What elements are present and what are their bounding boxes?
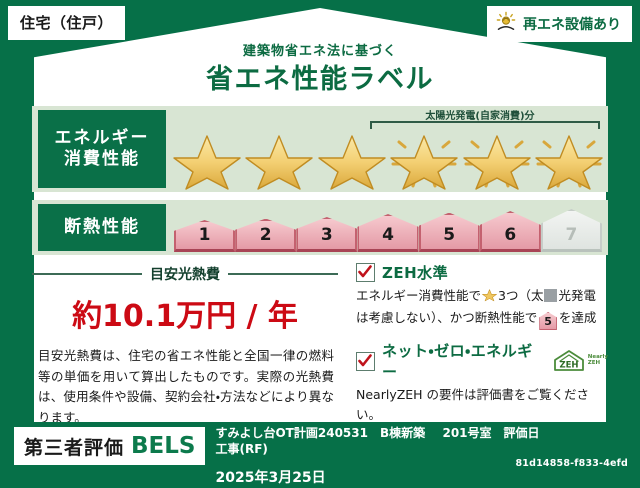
- star-icon: [482, 290, 497, 305]
- check-icon: [356, 263, 375, 282]
- renewable-equipment-badge: 再エネ設備あり: [487, 6, 632, 42]
- insulation-level-inline-badge: 5: [539, 312, 557, 330]
- rule-left: [32, 273, 142, 275]
- energy-performance-label: 住宅（住戸） 再エネ設備あり 建築物省エネ法に基づく 省エネ性能ラベル: [0, 0, 640, 478]
- utility-cost-title-row: 目安光熱費: [32, 264, 338, 284]
- footer-metadata: すみよし台OT計画240531 B棟新築工事(RF) 201号室 評価日 202…: [205, 425, 630, 467]
- star-solar-icon: [389, 128, 459, 190]
- solar-portion-label: 太陽光発電(自家消費)分: [358, 107, 602, 122]
- renewable-equipment-label: 再エネ設備あり: [523, 14, 621, 34]
- check-icon: [356, 352, 375, 371]
- utility-cost-panel: 目安光熱費 約10.1万円 / 年 目安光熱費は、住宅の省エネ性能と全国一律の燃…: [32, 262, 338, 410]
- unit-number: 201号室: [442, 425, 491, 441]
- energy-performance-value: 太陽光発電(自家消費)分: [166, 106, 608, 192]
- star-icon: [244, 128, 314, 190]
- star-icon: [317, 128, 387, 190]
- claim-text-part4: を達成: [559, 310, 597, 325]
- insulation-level-list: 1 2 3 4 5 6 7: [174, 209, 602, 252]
- rule-right: [228, 273, 338, 275]
- energy-star-rating: [172, 128, 604, 190]
- zeh-house-logo-icon: ZEH Nearly ZEH: [552, 349, 608, 373]
- energy-performance-key-line2: 消費性能: [64, 149, 140, 170]
- claim-net-zero-energy-body: NearlyZEH の要件は評価書をご覧ください。: [356, 385, 608, 425]
- insulation-level-badge: 4: [357, 214, 418, 252]
- claim-net-zero-energy-head: ネット・ゼロ・エネルギー ZEH Nearly ZEH: [356, 340, 608, 382]
- evaluation-date-label: 評価日: [504, 425, 540, 441]
- energy-performance-key: エネルギー 消費性能: [38, 110, 166, 188]
- svg-text:ZEH: ZEH: [559, 361, 578, 371]
- bels-logo-text: BELS: [131, 433, 195, 459]
- sun-solar-icon: [495, 11, 517, 37]
- claim-net-zero-energy-title: ネット・ゼロ・エネルギー: [382, 340, 541, 382]
- building-type-tag: 住宅（住戸）: [8, 6, 125, 40]
- zeh-logo-subtext-line2: ZEH: [588, 360, 600, 366]
- star-solar-icon: [534, 128, 604, 190]
- insulation-level-badge: 3: [296, 217, 357, 252]
- star-icon: [172, 128, 242, 190]
- property-name: すみよし台OT計画240531 B棟新築工事(RF): [215, 425, 430, 457]
- energy-performance-key-line1: エネルギー: [55, 128, 150, 149]
- insulation-level-badge: 1: [174, 220, 235, 252]
- certificate-id: 81d14858-f833-4efd: [515, 458, 628, 469]
- label-title: 省エネ性能ラベル: [0, 57, 640, 96]
- claim-zeh-standard-body: エネルギー消費性能で3つ（太光発電は考慮しない）、かつ断熱性能で5を達成: [356, 286, 608, 330]
- bels-badge: 第三者評価 BELS: [14, 427, 205, 465]
- claim-zeh-standard-title: ZEH水準: [382, 262, 448, 283]
- star-solar-icon: [462, 128, 532, 190]
- insulation-performance-key: 断熱性能: [38, 204, 166, 251]
- building-type-label: 住宅（住戸）: [20, 14, 113, 32]
- label-lower-section: 目安光熱費 約10.1万円 / 年 目安光熱費は、住宅の省エネ性能と全国一律の燃…: [32, 262, 608, 410]
- utility-cost-note: 目安光熱費は、住宅の省エネ性能と全国一律の燃料等の単価を用いて算出したものです。…: [32, 346, 338, 429]
- redacted-char-icon: [544, 289, 557, 302]
- claim-zeh-standard: ZEH水準 エネルギー消費性能で3つ（太光発電は考慮しない）、かつ断熱性能で5を…: [356, 262, 608, 330]
- insulation-performance-key-label: 断熱性能: [64, 217, 140, 238]
- claim-zeh-standard-head: ZEH水準: [356, 262, 608, 283]
- evaluation-date-value: 2025年3月25日: [215, 469, 325, 488]
- claim-net-zero-energy: ネット・ゼロ・エネルギー ZEH Nearly ZEH NearlyZEH: [356, 340, 608, 425]
- insulation-level-badge: 6: [480, 211, 541, 252]
- claim-text-part2: 3つ（太: [498, 288, 543, 303]
- insulation-level-badge: 5: [419, 213, 480, 253]
- utility-cost-value: 約10.1万円 / 年: [32, 291, 338, 335]
- footer-bar: 第三者評価 BELS すみよし台OT計画240531 B棟新築工事(RF) 20…: [10, 422, 630, 470]
- insulation-performance-row: 断熱性能 1 2 3 4 5 6 7: [32, 200, 608, 255]
- energy-performance-row: エネルギー 消費性能 太陽光発電(自家消費)分: [32, 106, 608, 192]
- zeh-logo-subtext: Nearly ZEH: [588, 355, 608, 367]
- bels-evaluation-label: 第三者評価: [24, 433, 124, 460]
- insulation-level-badge-inactive: 7: [541, 209, 602, 252]
- insulation-level-badge: 2: [235, 219, 296, 253]
- insulation-performance-value: 1 2 3 4 5 6 7: [166, 200, 608, 255]
- footer-meta-line: すみよし台OT計画240531 B棟新築工事(RF) 201号室 評価日 202…: [215, 425, 630, 488]
- claim-text-part1: エネルギー消費性能で: [356, 288, 481, 303]
- utility-cost-title: 目安光熱費: [150, 264, 220, 284]
- claims-panel: ZEH水準 エネルギー消費性能で3つ（太光発電は考慮しない）、かつ断熱性能で5を…: [338, 262, 608, 410]
